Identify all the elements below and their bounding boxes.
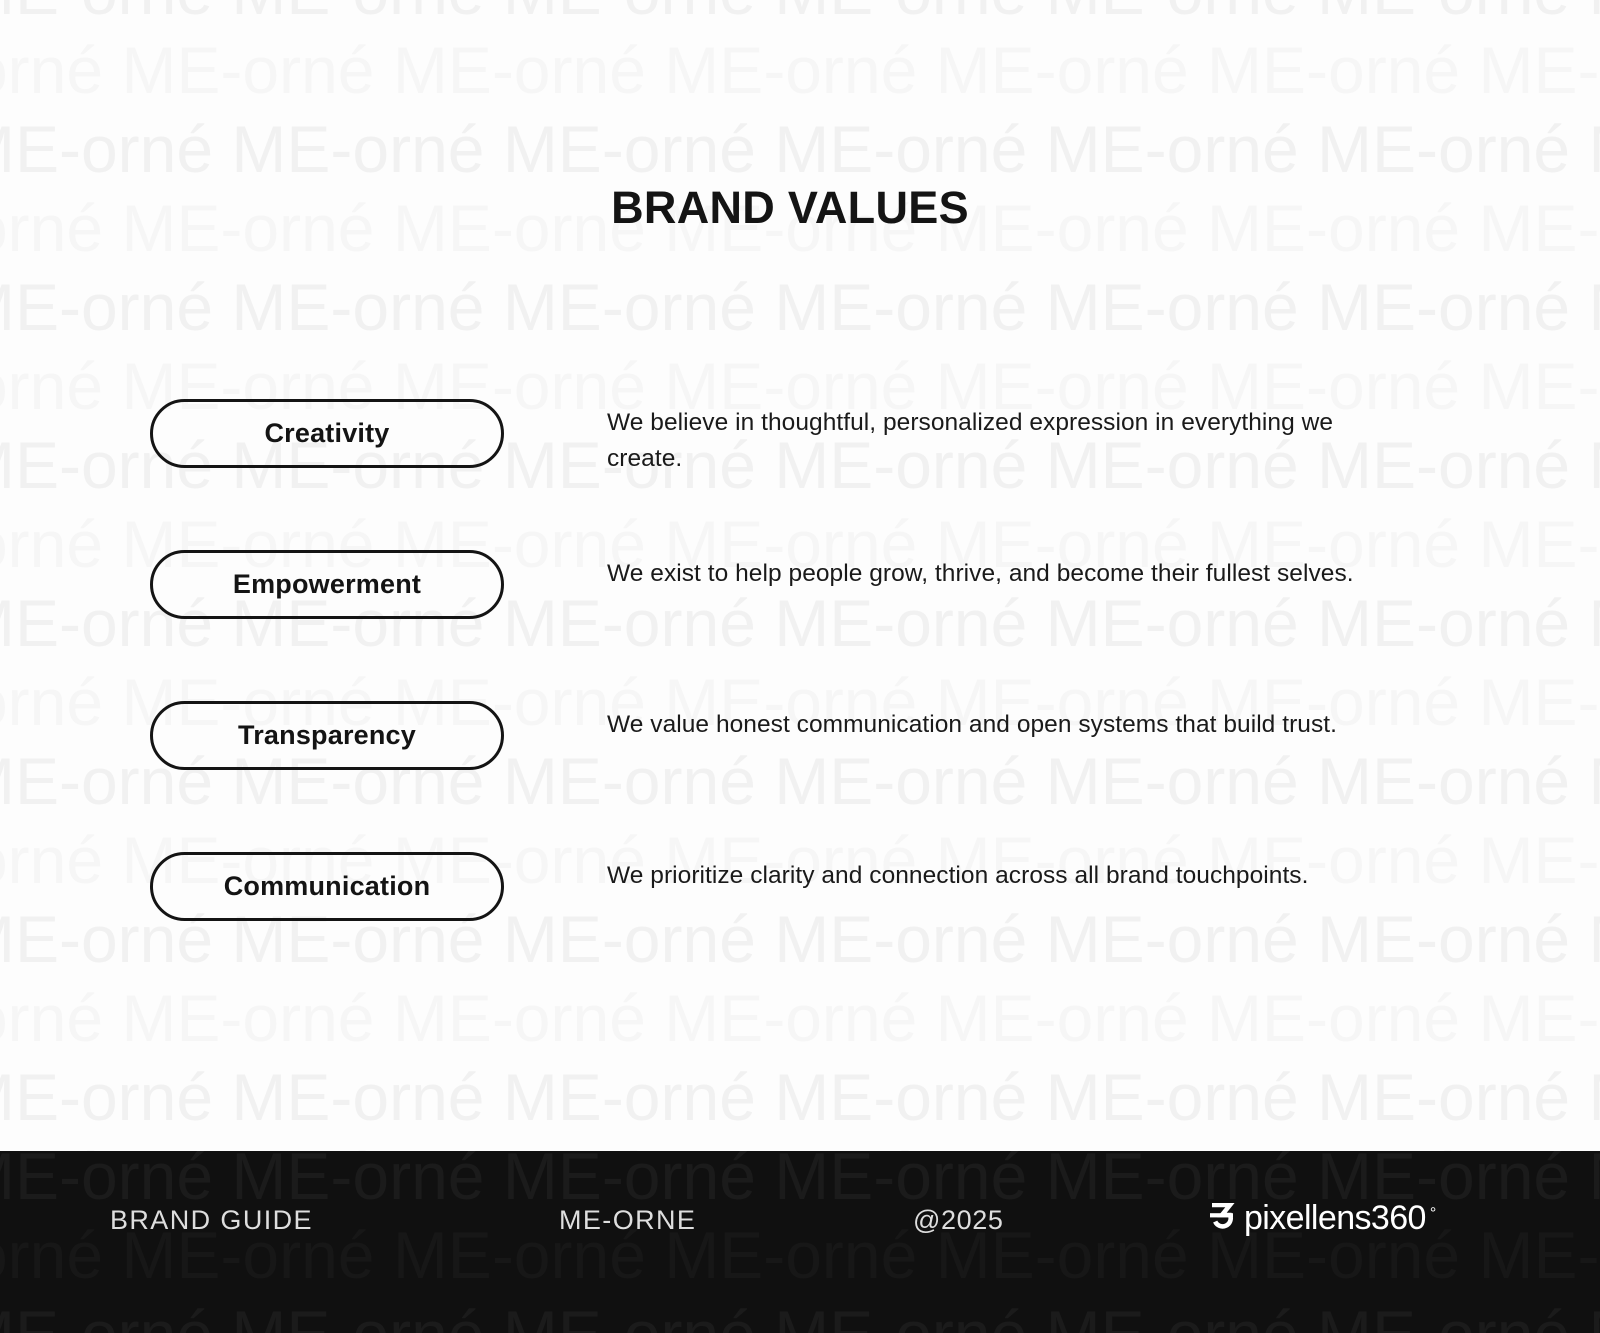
footer-brand-guide: BRAND GUIDE [110,1205,313,1236]
value-description: We believe in thoughtful, personalized e… [607,405,1367,477]
value-row: Transparency We value honest communicati… [0,701,1600,852]
value-description: We prioritize clarity and connection acr… [607,858,1367,894]
watermark-row: ME-orné ME-orné ME-orné ME-orné ME-orné … [0,37,1600,103]
footer-year: @2025 [913,1205,1003,1236]
value-pill-label: Creativity [264,418,389,449]
value-row: Creativity We believe in thoughtful, per… [0,399,1600,550]
value-pill-transparency[interactable]: Transparency [150,701,504,770]
watermark-row: ME-orné ME-orné ME-orné ME-orné ME-orné … [0,274,1600,340]
value-row: Empowerment We exist to help people grow… [0,550,1600,701]
value-pill-label: Transparency [238,720,416,751]
value-pill-label: Communication [224,871,431,902]
logo-wordmark: pixellens360 [1244,1199,1426,1238]
brand-values-list: Creativity We believe in thoughtful, per… [0,399,1600,1003]
value-description: We value honest communication and open s… [607,707,1367,743]
value-pill-label: Empowerment [233,569,421,600]
page-footer: ME-orné ME-orné ME-orné ME-orné ME-orné … [0,1151,1600,1333]
watermark-row: ME-orné ME-orné ME-orné ME-orné ME-orné … [0,116,1600,182]
pixellens360-logo: pixellens360 ° [1210,1199,1436,1238]
watermark-row: ME-orné ME-orné ME-orné ME-orné ME-orné … [0,0,1600,24]
value-pill-empowerment[interactable]: Empowerment [150,550,504,619]
logo-degree-icon: ° [1430,1205,1436,1223]
value-pill-creativity[interactable]: Creativity [150,399,504,468]
page-title: BRAND VALUES [0,182,1580,234]
value-description: We exist to help people grow, thrive, an… [607,556,1367,592]
stylized-3-icon [1210,1203,1236,1235]
watermark-row: ME-orné ME-orné ME-orné ME-orné ME-orné … [0,1064,1600,1130]
value-pill-communication[interactable]: Communication [150,852,504,921]
footer-brand-name: ME-ORNE [559,1205,696,1236]
brand-values-slide: ME-orné ME-orné ME-orné ME-orné ME-orné … [0,0,1600,1333]
value-row: Communication We prioritize clarity and … [0,852,1600,1003]
